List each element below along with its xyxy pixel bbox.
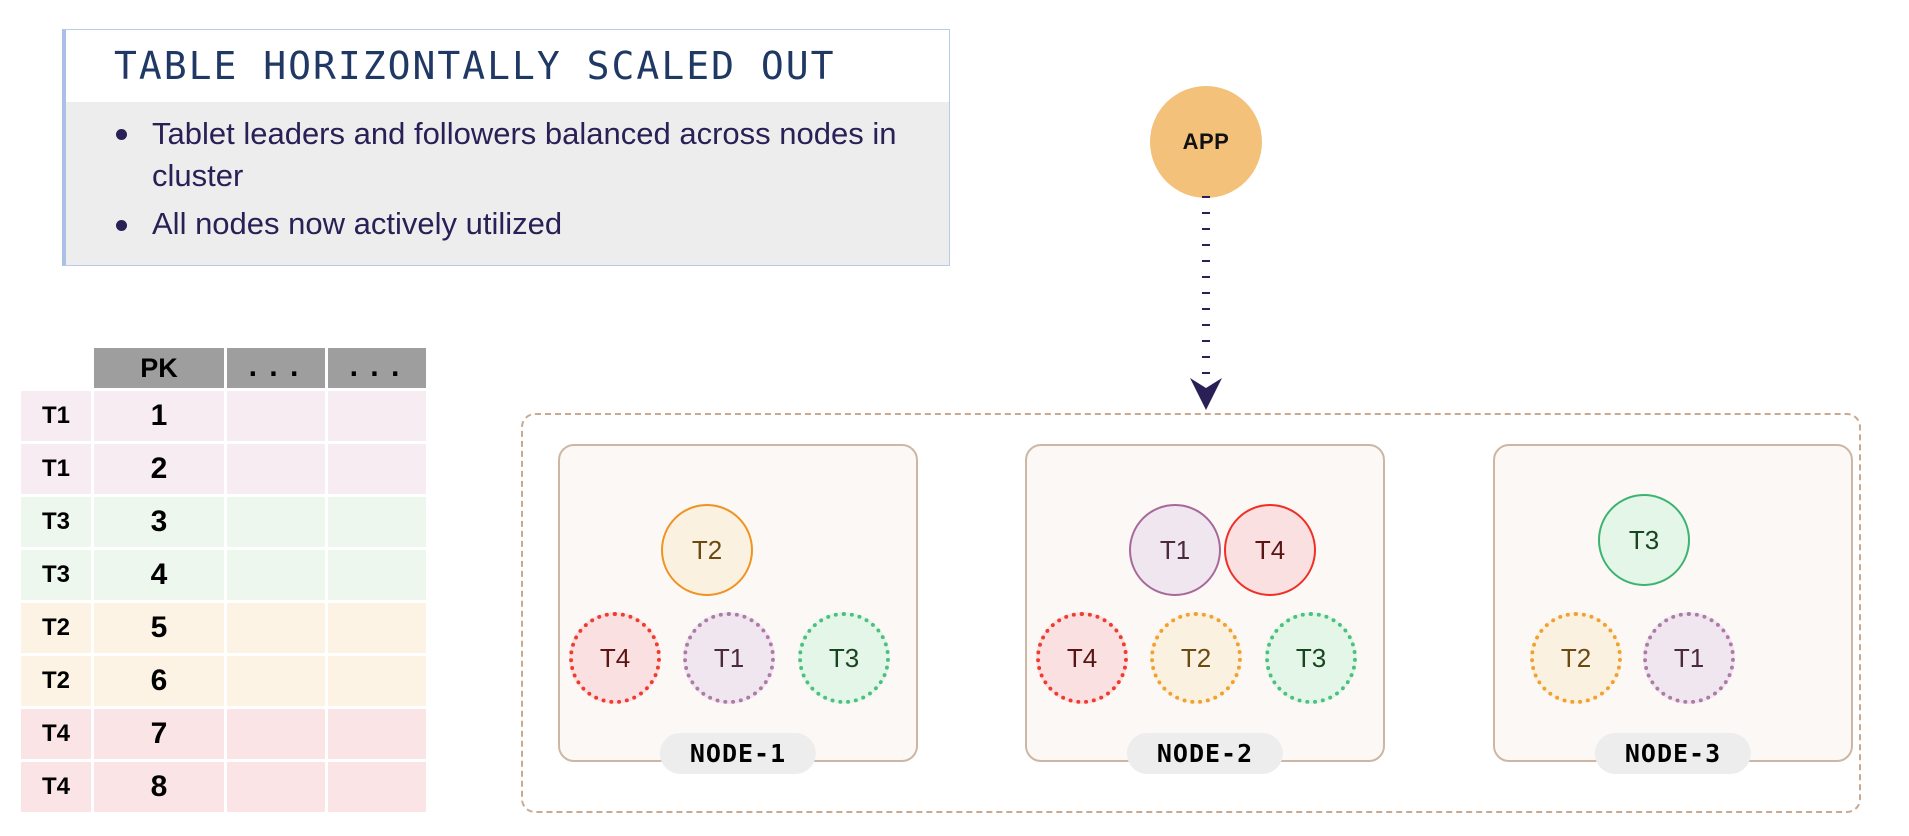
table-header-row: PK ... ... bbox=[21, 348, 426, 388]
list-item-label: Tablet leaders and followers balanced ac… bbox=[152, 116, 896, 193]
row-empty-cell bbox=[328, 656, 426, 706]
tablet-follower: T4 bbox=[569, 612, 661, 704]
table-row: T12 bbox=[21, 444, 426, 494]
tablet-label: T1 bbox=[1674, 643, 1704, 674]
row-pk-value: 5 bbox=[94, 603, 224, 653]
row-empty-cell bbox=[328, 603, 426, 653]
column-header-ellipsis-2: ... bbox=[328, 348, 426, 388]
tablet-label: T2 bbox=[1561, 643, 1591, 674]
tablet-follower: T2 bbox=[1530, 612, 1622, 704]
page-title: TABLE HORIZONTALLY SCALED OUT bbox=[66, 30, 949, 102]
table-row: T11 bbox=[21, 391, 426, 441]
node-box-1[interactable]: T2 T4 T1 T3 NODE-1 bbox=[558, 444, 918, 762]
node-label-1: NODE-1 bbox=[660, 733, 816, 774]
table-row: T47 bbox=[21, 709, 426, 759]
tablet-follower: T1 bbox=[1643, 612, 1735, 704]
node-label-3: NODE-3 bbox=[1595, 733, 1751, 774]
tablet-follower: T3 bbox=[1265, 612, 1357, 704]
row-tablet-label: T3 bbox=[21, 550, 91, 600]
row-tablet-label: T3 bbox=[21, 497, 91, 547]
table-row: T25 bbox=[21, 603, 426, 653]
tablet-label: T1 bbox=[714, 643, 744, 674]
row-empty-cell bbox=[227, 444, 325, 494]
tablet-leader: T1 bbox=[1129, 504, 1221, 596]
table-row: T26 bbox=[21, 656, 426, 706]
row-empty-cell bbox=[328, 497, 426, 547]
row-empty-cell bbox=[227, 391, 325, 441]
tablet-label: T3 bbox=[829, 643, 859, 674]
tablet-leader: T4 bbox=[1224, 504, 1316, 596]
row-empty-cell bbox=[328, 762, 426, 812]
tablet-follower: T4 bbox=[1036, 612, 1128, 704]
row-pk-value: 4 bbox=[94, 550, 224, 600]
row-empty-cell bbox=[227, 709, 325, 759]
pk-table-wrapper: PK ... ... T11T12T33T34T25T26T47T48 bbox=[18, 345, 429, 815]
info-callout-box: TABLE HORIZONTALLY SCALED OUT Tablet lea… bbox=[62, 29, 950, 266]
row-tablet-label: T4 bbox=[21, 762, 91, 812]
row-empty-cell bbox=[328, 391, 426, 441]
node-box-3[interactable]: T3 T2 T1 NODE-3 bbox=[1493, 444, 1853, 762]
app-label: APP bbox=[1183, 129, 1230, 155]
table-row: T34 bbox=[21, 550, 426, 600]
row-empty-cell bbox=[227, 497, 325, 547]
table-row: T33 bbox=[21, 497, 426, 547]
list-item-label: All nodes now actively utilized bbox=[152, 206, 562, 241]
app-node: APP bbox=[1150, 86, 1262, 198]
list-item: Tablet leaders and followers balanced ac… bbox=[74, 113, 933, 197]
row-pk-value: 1 bbox=[94, 391, 224, 441]
row-empty-cell bbox=[328, 709, 426, 759]
row-empty-cell bbox=[227, 603, 325, 653]
tablet-follower: T1 bbox=[683, 612, 775, 704]
row-pk-value: 3 bbox=[94, 497, 224, 547]
row-empty-cell bbox=[328, 444, 426, 494]
row-tablet-label: T1 bbox=[21, 391, 91, 441]
node-box-2[interactable]: T1 T4 T4 T2 T3 NODE-2 bbox=[1025, 444, 1385, 762]
cluster-container: T2 T4 T1 T3 NODE-1 T1 T4 T4 T2 T3 NODE-2 bbox=[521, 413, 1861, 813]
tablet-follower: T3 bbox=[798, 612, 890, 704]
app-to-cluster-arrow-icon bbox=[1178, 196, 1234, 416]
tablet-label: T2 bbox=[692, 535, 722, 566]
row-pk-value: 8 bbox=[94, 762, 224, 812]
tablet-follower: T2 bbox=[1150, 612, 1242, 704]
bullet-dot-icon bbox=[116, 129, 127, 140]
row-tablet-label: T1 bbox=[21, 444, 91, 494]
list-item: All nodes now actively utilized bbox=[74, 203, 933, 245]
row-empty-cell bbox=[227, 762, 325, 812]
tablet-label: T3 bbox=[1296, 643, 1326, 674]
info-bullet-list: Tablet leaders and followers balanced ac… bbox=[66, 102, 949, 265]
pk-table: PK ... ... T11T12T33T34T25T26T47T48 bbox=[18, 345, 429, 815]
row-empty-cell bbox=[328, 550, 426, 600]
tablet-label: T2 bbox=[1181, 643, 1211, 674]
tablet-label: T4 bbox=[1255, 535, 1285, 566]
row-tablet-label: T4 bbox=[21, 709, 91, 759]
row-tablet-label: T2 bbox=[21, 656, 91, 706]
node-label-2: NODE-2 bbox=[1127, 733, 1283, 774]
tablet-label: T4 bbox=[600, 643, 630, 674]
column-header-ellipsis-1: ... bbox=[227, 348, 325, 388]
tablet-leader: T3 bbox=[1598, 494, 1690, 586]
tablet-label: T3 bbox=[1629, 525, 1659, 556]
row-empty-cell bbox=[227, 656, 325, 706]
row-pk-value: 7 bbox=[94, 709, 224, 759]
table-corner-cell bbox=[21, 348, 91, 388]
tablet-label: T4 bbox=[1067, 643, 1097, 674]
column-header-pk: PK bbox=[94, 348, 224, 388]
row-tablet-label: T2 bbox=[21, 603, 91, 653]
tablet-label: T1 bbox=[1160, 535, 1190, 566]
bullet-dot-icon bbox=[116, 220, 127, 231]
table-row: T48 bbox=[21, 762, 426, 812]
row-pk-value: 2 bbox=[94, 444, 224, 494]
tablet-leader: T2 bbox=[661, 504, 753, 596]
row-empty-cell bbox=[227, 550, 325, 600]
row-pk-value: 6 bbox=[94, 656, 224, 706]
